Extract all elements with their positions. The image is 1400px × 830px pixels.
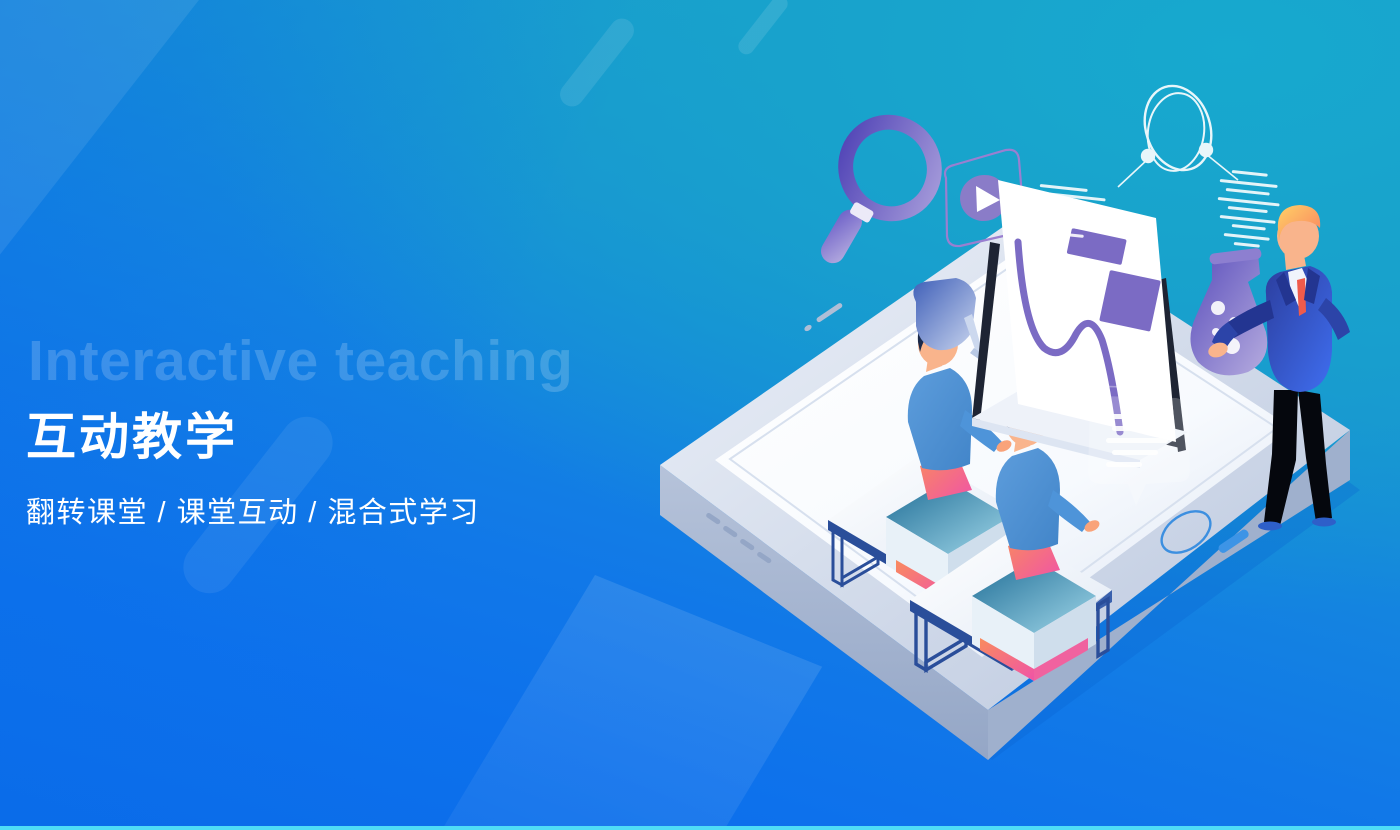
atom-note-lines-right: [1218, 170, 1280, 248]
page-subtitle: 翻转课堂 / 课堂互动 / 混合式学习: [26, 495, 480, 533]
atom-orbit-icon: [1118, 77, 1238, 187]
ghost-headline: Interactive teaching: [28, 333, 573, 390]
hero-banner: Interactive teaching 互动教学 翻转课堂 / 课堂互动 / …: [0, 0, 1400, 830]
magnifier-icon: [817, 109, 948, 268]
bottom-accent-strip: [0, 826, 1400, 830]
illustration-isometric-classroom: [620, 60, 1400, 800]
page-title: 互动教学: [26, 409, 238, 467]
